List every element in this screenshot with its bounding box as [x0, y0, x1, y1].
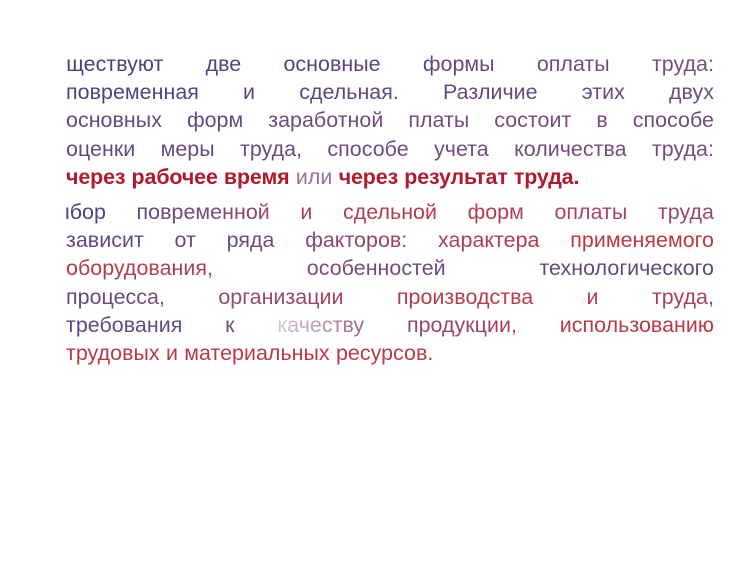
emphasis-through-work-result: через результат труда. — [339, 165, 580, 189]
paragraph-1-line-2: повременная и сдельная. Различие этих дв… — [66, 78, 714, 106]
emphasis-through-working-time: через рабочее время — [66, 165, 290, 189]
paragraph-1: Существуют две основные формы оплаты тру… — [40, 50, 714, 191]
paragraph-1-line-1: Существуют две основные формы оплаты тру… — [66, 50, 714, 78]
paragraph-2-line-5: требования к качеству продукции, использ… — [66, 311, 714, 339]
paragraph-2: Выбор повременной и сдельной форм оплаты… — [40, 198, 714, 367]
slide-body: Существуют две основные формы оплаты тру… — [40, 50, 714, 367]
paragraph-2-line-3: оборудования, особенностей технологическ… — [66, 254, 714, 282]
paragraph-1-line-3: основных форм заработной платы состоит в… — [66, 106, 714, 134]
slide-canvas: Существуют две основные формы оплаты тру… — [0, 0, 750, 562]
paragraph-2-line-4: процесса, организации производства и тру… — [66, 283, 714, 311]
emphasis-conjunction-word: или — [296, 165, 333, 189]
paragraph-2-line-6: трудовых и материальных ресурсов. — [66, 339, 714, 367]
paragraph-1-emphasis-line: через рабочее время или через результат … — [66, 163, 714, 191]
paragraph-1-line-4: оценки меры труда, способе учета количес… — [66, 135, 714, 163]
paragraph-2-line-2: зависит от ряда факторов: характера прим… — [66, 226, 714, 254]
paragraph-2-line-1: Выбор повременной и сдельной форм оплаты… — [66, 198, 714, 226]
